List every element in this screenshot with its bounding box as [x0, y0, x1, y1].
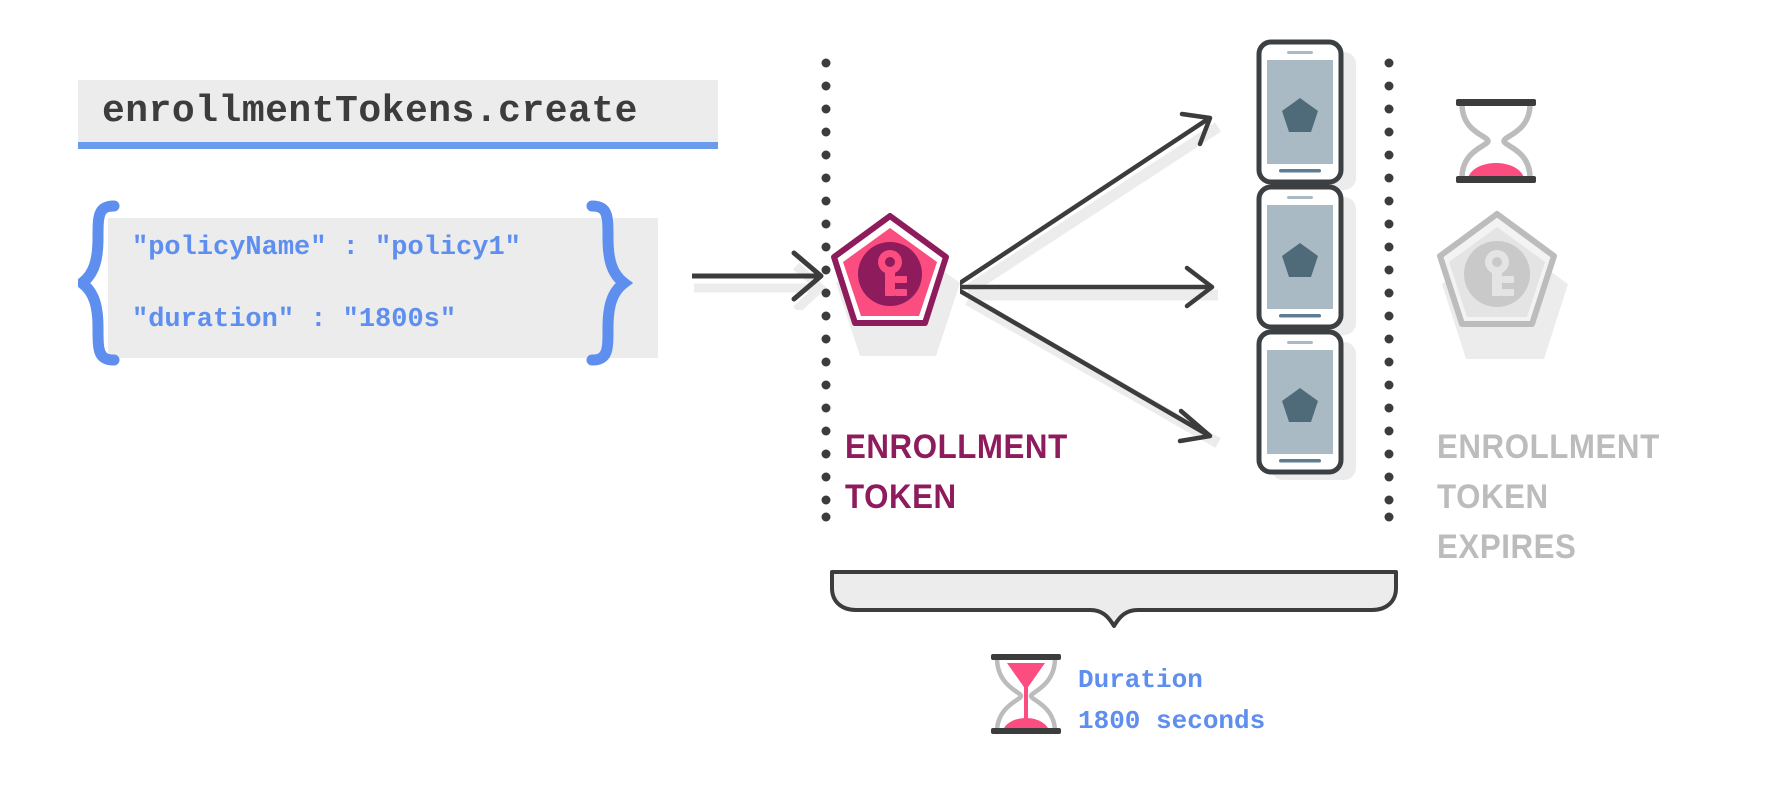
enrolled-device [1255, 183, 1365, 343]
json-line-duration: "duration" : "1800s" [132, 305, 456, 335]
token-distribution-arrows [960, 95, 1250, 495]
hourglass-cap-bottom [991, 728, 1061, 734]
enrollment-token-expired-icon [1435, 208, 1595, 363]
duration-brace [820, 570, 1410, 630]
hourglass-cap-top [991, 654, 1061, 660]
enrolled-device [1255, 38, 1365, 198]
duration-caption-line2: 1800 seconds [1078, 706, 1265, 736]
brace-open-icon [82, 206, 114, 360]
dotted-divider-right [1381, 55, 1397, 525]
diagram-canvas: enrollmentTokens.create "policyName" : "… [0, 0, 1789, 795]
arrow-to-device-1 [960, 119, 1208, 283]
hourglass-sand [1468, 163, 1524, 178]
duration-caption: Duration 1800 seconds [1078, 660, 1265, 742]
api-method-underline [78, 142, 718, 149]
hourglass-cap-bottom [1456, 176, 1536, 183]
enrolled-device [1255, 328, 1365, 488]
hourglass-cap-top [1456, 99, 1536, 106]
json-line-policy-name: "policyName" : "policy1" [132, 233, 521, 263]
arrow-to-device-3 [960, 291, 1208, 435]
hourglass-icon [1448, 92, 1544, 190]
api-method-box: enrollmentTokens.create [78, 80, 718, 142]
api-method-label: enrollmentTokens.create [102, 90, 638, 133]
hourglass-running-icon [985, 648, 1067, 744]
json-request-body: "policyName" : "policy1" "duration" : "1… [132, 212, 652, 356]
duration-caption-line1: Duration [1078, 665, 1203, 695]
enrollment-token-expires-label: ENROLLMENT TOKEN EXPIRES [1437, 422, 1660, 572]
